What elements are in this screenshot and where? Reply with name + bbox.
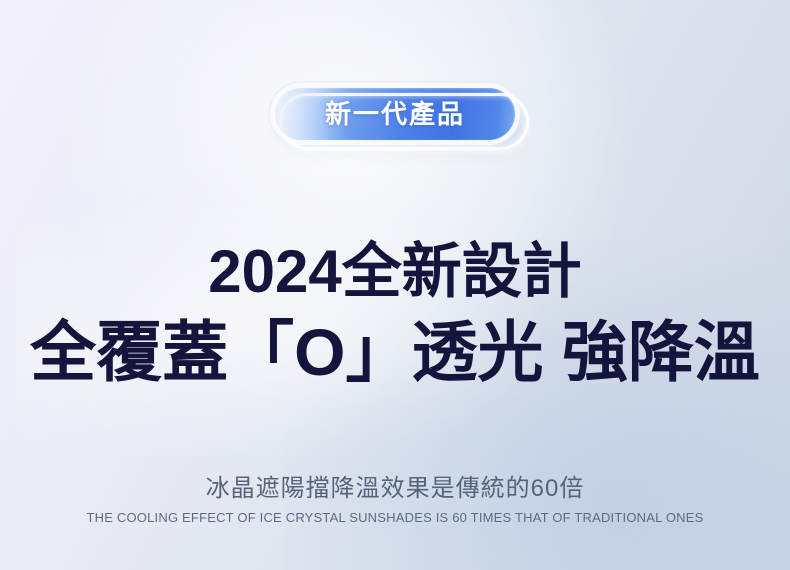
hero-banner: 新一代產品 2024全新設計 全覆蓋「O」透光 強降溫 冰晶遮陽擋降溫效果是傳統…: [0, 0, 790, 570]
headline-line-1: 2024全新設計: [0, 240, 790, 304]
headline-line-2: 全覆蓋「O」透光 強降溫: [0, 318, 790, 388]
subtitle-chinese: 冰晶遮陽擋降溫效果是傳統的60倍: [0, 468, 790, 503]
badge-container: 新一代產品: [0, 88, 790, 140]
subtitle-english: THE COOLING EFFECT OF ICE CRYSTAL SUNSHA…: [0, 510, 790, 525]
hero-content: 新一代產品 2024全新設計 全覆蓋「O」透光 強降溫 冰晶遮陽擋降溫效果是傳統…: [0, 0, 790, 570]
badge-label: 新一代產品: [325, 101, 465, 127]
headline-block: 2024全新設計 全覆蓋「O」透光 強降溫: [0, 240, 790, 388]
new-generation-badge[interactable]: 新一代產品: [275, 88, 515, 140]
